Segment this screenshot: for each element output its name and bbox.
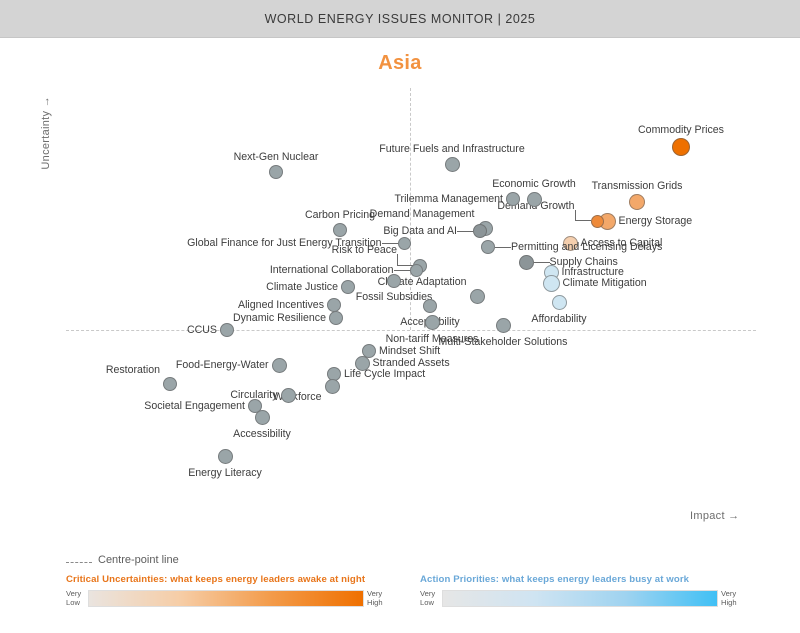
label-leader-line (394, 270, 410, 271)
issue-label: Next-Gen Nuclear (234, 152, 319, 163)
uncertainty-gradient-bar (88, 590, 364, 607)
legend-action-priorities: Action Priorities: what keeps energy lea… (420, 574, 750, 585)
issue-label: Accessibility (233, 429, 291, 440)
legend: Centre-point line Critical Uncertainties… (0, 548, 800, 633)
action-gradient-bar (442, 590, 718, 607)
issue-label: Big Data and AI (383, 226, 457, 237)
issue-label: Fossil Subsidies (356, 292, 433, 303)
issue-label: Commodity Prices (638, 125, 724, 136)
action-scale-high: VeryHigh (721, 590, 745, 607)
legend-uncertainty-caption: Critical Uncertainties: what keeps energ… (66, 574, 396, 585)
issue-bubble[interactable] (473, 224, 487, 238)
y-axis-label: Uncertainty → (40, 96, 52, 170)
issue-bubble[interactable] (341, 280, 355, 294)
issue-label: Permitting and Licensing Delays (511, 242, 662, 253)
x-axis-label: Impact → (690, 510, 739, 522)
issue-bubble[interactable] (591, 215, 604, 228)
issue-bubble[interactable] (552, 295, 567, 310)
issue-bubble[interactable] (281, 388, 296, 403)
legend-critical-uncertainties: Critical Uncertainties: what keeps energ… (66, 574, 396, 585)
issue-bubble[interactable] (543, 275, 560, 292)
issue-bubble[interactable] (327, 298, 341, 312)
issue-label: Economic Growth (492, 179, 576, 190)
issue-bubble[interactable] (481, 240, 495, 254)
issue-label: Infrastructure (562, 267, 624, 278)
issue-label: Non-tariff Measures (386, 334, 479, 345)
uncertainty-scale-low: VeryLow (66, 590, 88, 607)
issue-bubble[interactable] (255, 410, 270, 425)
issue-label: Food-Energy-Water (176, 360, 269, 371)
issue-bubble[interactable] (672, 138, 690, 156)
issue-bubble[interactable] (527, 192, 542, 207)
issue-bubble[interactable] (272, 358, 287, 373)
issue-bubble[interactable] (218, 449, 233, 464)
issue-label: Climate Mitigation (563, 278, 647, 289)
issue-label: Trilemma Management (394, 194, 503, 205)
issue-label: Risk to Peace (332, 245, 397, 256)
issue-label: CCUS (187, 325, 217, 336)
issue-label: Mindset Shift (379, 346, 440, 357)
issue-bubble[interactable] (470, 289, 485, 304)
issue-bubble[interactable] (629, 194, 645, 210)
issue-bubble[interactable] (423, 299, 437, 313)
issue-label: Life Cycle Impact (344, 369, 425, 380)
issue-bubble[interactable] (445, 157, 460, 172)
issue-bubble[interactable] (269, 165, 283, 179)
issue-label: Future Fuels and Infrastructure (379, 144, 524, 155)
label-leader-line (575, 210, 591, 222)
issue-label: Demand Management (370, 209, 475, 220)
issue-label: Societal Engagement (144, 401, 245, 412)
issue-label: Aligned Incentives (238, 300, 324, 311)
issue-bubble[interactable] (506, 192, 520, 206)
issues-map-plot: Uncertainty → Impact → Commodity PricesT… (0, 0, 800, 633)
issue-bubble[interactable] (496, 318, 511, 333)
issue-bubble[interactable] (398, 237, 411, 250)
uncertainty-scale: VeryLow VeryHigh (66, 590, 391, 607)
issue-label: Restoration (106, 365, 160, 376)
issue-bubble[interactable] (410, 264, 423, 277)
issue-label: International Collaboration (270, 265, 394, 276)
issue-bubble[interactable] (325, 379, 340, 394)
issue-bubble[interactable] (425, 315, 440, 330)
label-leader-line (534, 262, 550, 263)
issue-label: Dynamic Resilience (233, 313, 326, 324)
issue-bubble[interactable] (163, 377, 177, 391)
centre-point-line-label: Centre-point line (98, 554, 179, 566)
issue-label: Stranded Assets (373, 358, 450, 369)
issue-bubble[interactable] (387, 274, 401, 288)
label-leader-line (457, 231, 473, 232)
issue-label: Energy Literacy (188, 468, 262, 479)
centre-point-line-swatch (66, 562, 92, 563)
issue-label: Energy Storage (619, 216, 693, 227)
issue-bubble[interactable] (333, 223, 347, 237)
issue-bubble[interactable] (220, 323, 234, 337)
uncertainty-scale-high: VeryHigh (367, 590, 391, 607)
action-scale: VeryLow VeryHigh (420, 590, 745, 607)
label-leader-line (397, 254, 413, 266)
issue-label: Carbon Pricing (305, 210, 375, 221)
issue-label: Transmission Grids (592, 181, 683, 192)
action-scale-low: VeryLow (420, 590, 442, 607)
issue-label: Climate Justice (266, 282, 338, 293)
issue-bubble[interactable] (329, 311, 343, 325)
issue-label: Affordability (531, 314, 586, 325)
label-leader-line (495, 247, 511, 248)
issue-bubble[interactable] (519, 255, 534, 270)
legend-action-caption: Action Priorities: what keeps energy lea… (420, 574, 750, 585)
centre-point-horizontal-line (66, 330, 756, 331)
